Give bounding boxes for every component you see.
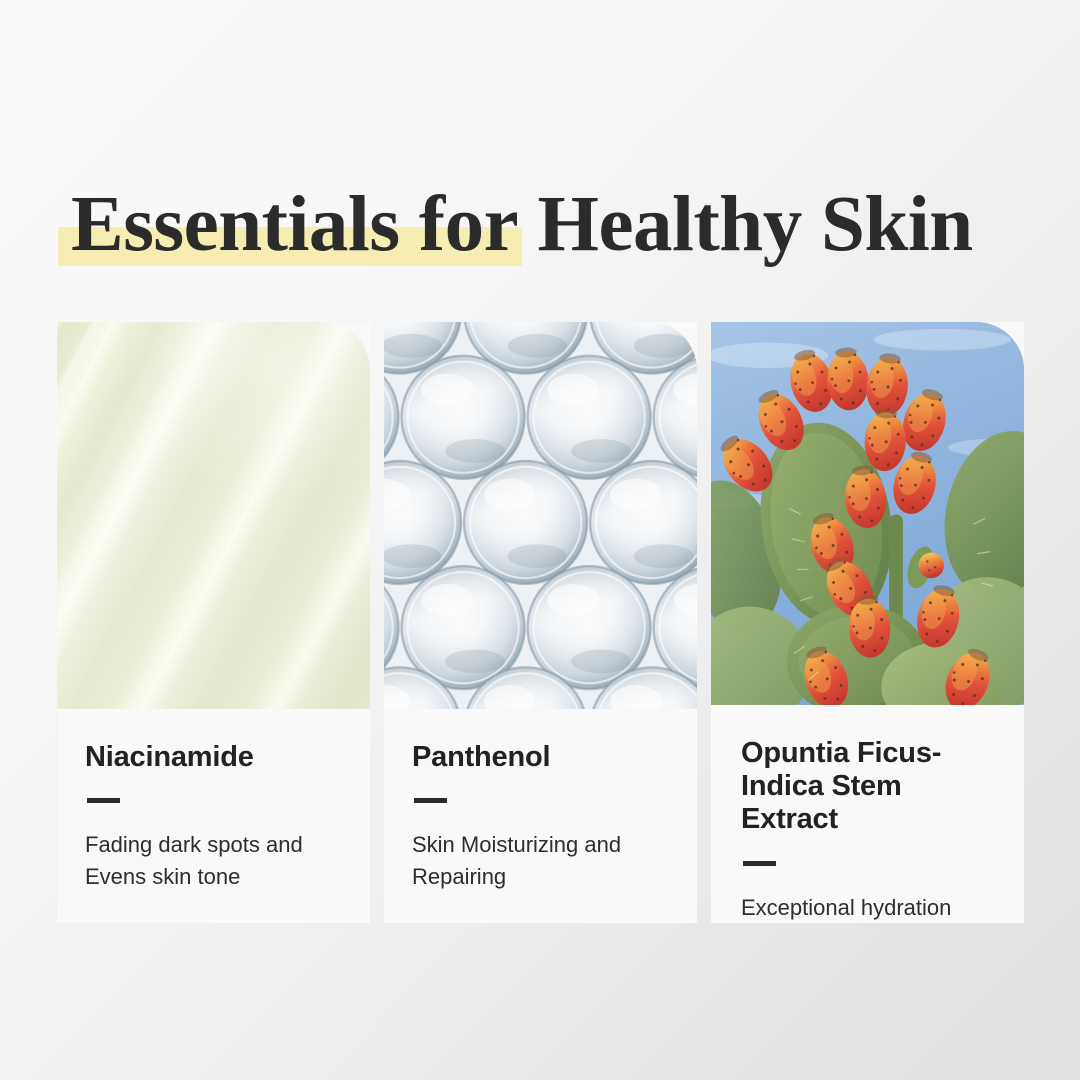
page-title: Essentials for Healthy Skin xyxy=(71,185,973,264)
page-title-highlighted-part: Essentials for xyxy=(71,185,518,264)
card-divider-rule xyxy=(743,861,776,866)
ingredient-card-panthenol: Panthenol Skin Moisturizing and Repairin… xyxy=(384,322,697,923)
ingredient-card-niacinamide: Niacinamide Fading dark spots and Evens … xyxy=(57,322,370,923)
card-image-cactus xyxy=(711,322,1024,705)
card-body: Panthenol Skin Moisturizing and Repairin… xyxy=(384,709,697,923)
card-image-cream-texture xyxy=(57,322,370,709)
card-divider-rule xyxy=(414,798,447,803)
card-body: Opuntia Ficus-Indica Stem Extract Except… xyxy=(711,705,1024,923)
card-title: Panthenol xyxy=(412,741,669,774)
card-title: Niacinamide xyxy=(85,741,342,774)
card-description: Exceptional hydration xyxy=(741,892,996,923)
card-description: Fading dark spots and Evens skin tone xyxy=(85,829,342,891)
card-image-gel-bubbles xyxy=(384,322,697,709)
page-title-rest: Healthy Skin xyxy=(518,181,972,268)
cream-texture-icon xyxy=(57,322,370,709)
prickly-pear-cactus-icon xyxy=(711,322,1024,705)
card-body: Niacinamide Fading dark spots and Evens … xyxy=(57,709,370,923)
ingredient-card-opuntia: Opuntia Ficus-Indica Stem Extract Except… xyxy=(711,322,1024,923)
ingredient-card-grid: Niacinamide Fading dark spots and Evens … xyxy=(57,322,1024,923)
card-divider-rule xyxy=(87,798,120,803)
page-title-block: Essentials for Healthy Skin xyxy=(57,168,1023,278)
gel-bubbles-icon xyxy=(384,322,697,709)
card-title: Opuntia Ficus-Indica Stem Extract xyxy=(741,737,996,837)
card-description: Skin Moisturizing and Repairing xyxy=(412,829,669,891)
